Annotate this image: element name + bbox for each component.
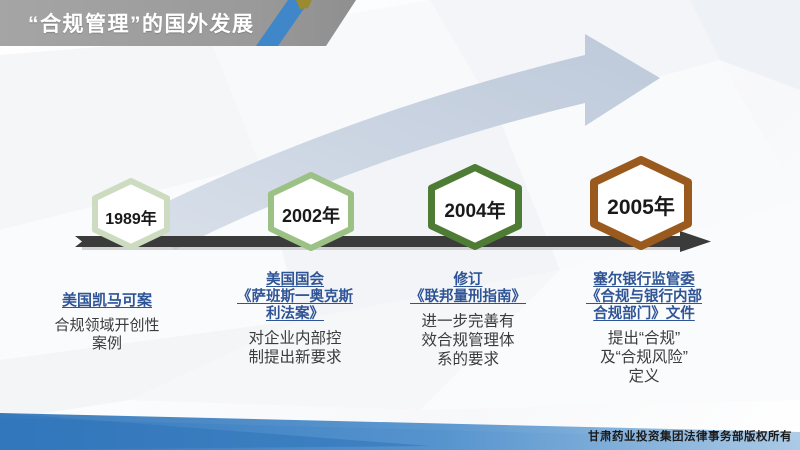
timeline-node-year-label: 2005年 xyxy=(590,191,692,221)
timeline-node-year-label: 1989年 xyxy=(92,205,170,229)
caption-col-2002: 美国国会 《萨班斯一奥克斯 利法案》对企业内部控 制提出新要求 xyxy=(220,272,370,368)
timeline-node-1989[interactable]: 1989年 xyxy=(92,178,170,250)
caption-title: 塞尔银行监管委 《合规与银行内部 合规部门》文件 xyxy=(560,272,728,323)
caption-title: 美国凯马可案 xyxy=(32,292,182,310)
timeline-node-2002[interactable]: 2002年 xyxy=(268,172,354,251)
caption-body: 合规领域开创性 案例 xyxy=(32,317,182,354)
caption-body: 对企业内部控 制提出新要求 xyxy=(220,330,370,368)
slide-canvas: “合规管理”的国外发展 1989年2002年2004年2005年 美国凯马可案合… xyxy=(0,0,800,450)
caption-body: 提出“合规” 及“合规风险” 定义 xyxy=(560,330,728,387)
timeline-node-2004[interactable]: 2004年 xyxy=(428,164,522,250)
copyright-footer: 甘肃药业投资集团法律事务部版权所有 xyxy=(588,428,792,444)
caption-title: 美国国会 《萨班斯一奥克斯 利法案》 xyxy=(220,272,370,323)
timeline-node-year-label: 2004年 xyxy=(428,196,522,223)
timeline-node-year-label: 2002年 xyxy=(268,202,354,228)
caption-col-1989: 美国凯马可案合规领域开创性 案例 xyxy=(32,292,182,353)
caption-body: 进一步完善有 效合规管理体 系的要求 xyxy=(392,313,544,370)
caption-title: 修订 《联邦量刑指南》 xyxy=(392,272,544,306)
caption-col-2005: 塞尔银行监管委 《合规与银行内部 合规部门》文件提出“合规” 及“合规风险” 定… xyxy=(560,272,728,387)
timeline-node-2005[interactable]: 2005年 xyxy=(590,156,692,250)
caption-col-2004: 修订 《联邦量刑指南》进一步完善有 效合规管理体 系的要求 xyxy=(392,272,544,370)
slide-title: “合规管理”的国外发展 xyxy=(28,8,255,38)
title-banner: “合规管理”的国外发展 xyxy=(0,0,400,48)
